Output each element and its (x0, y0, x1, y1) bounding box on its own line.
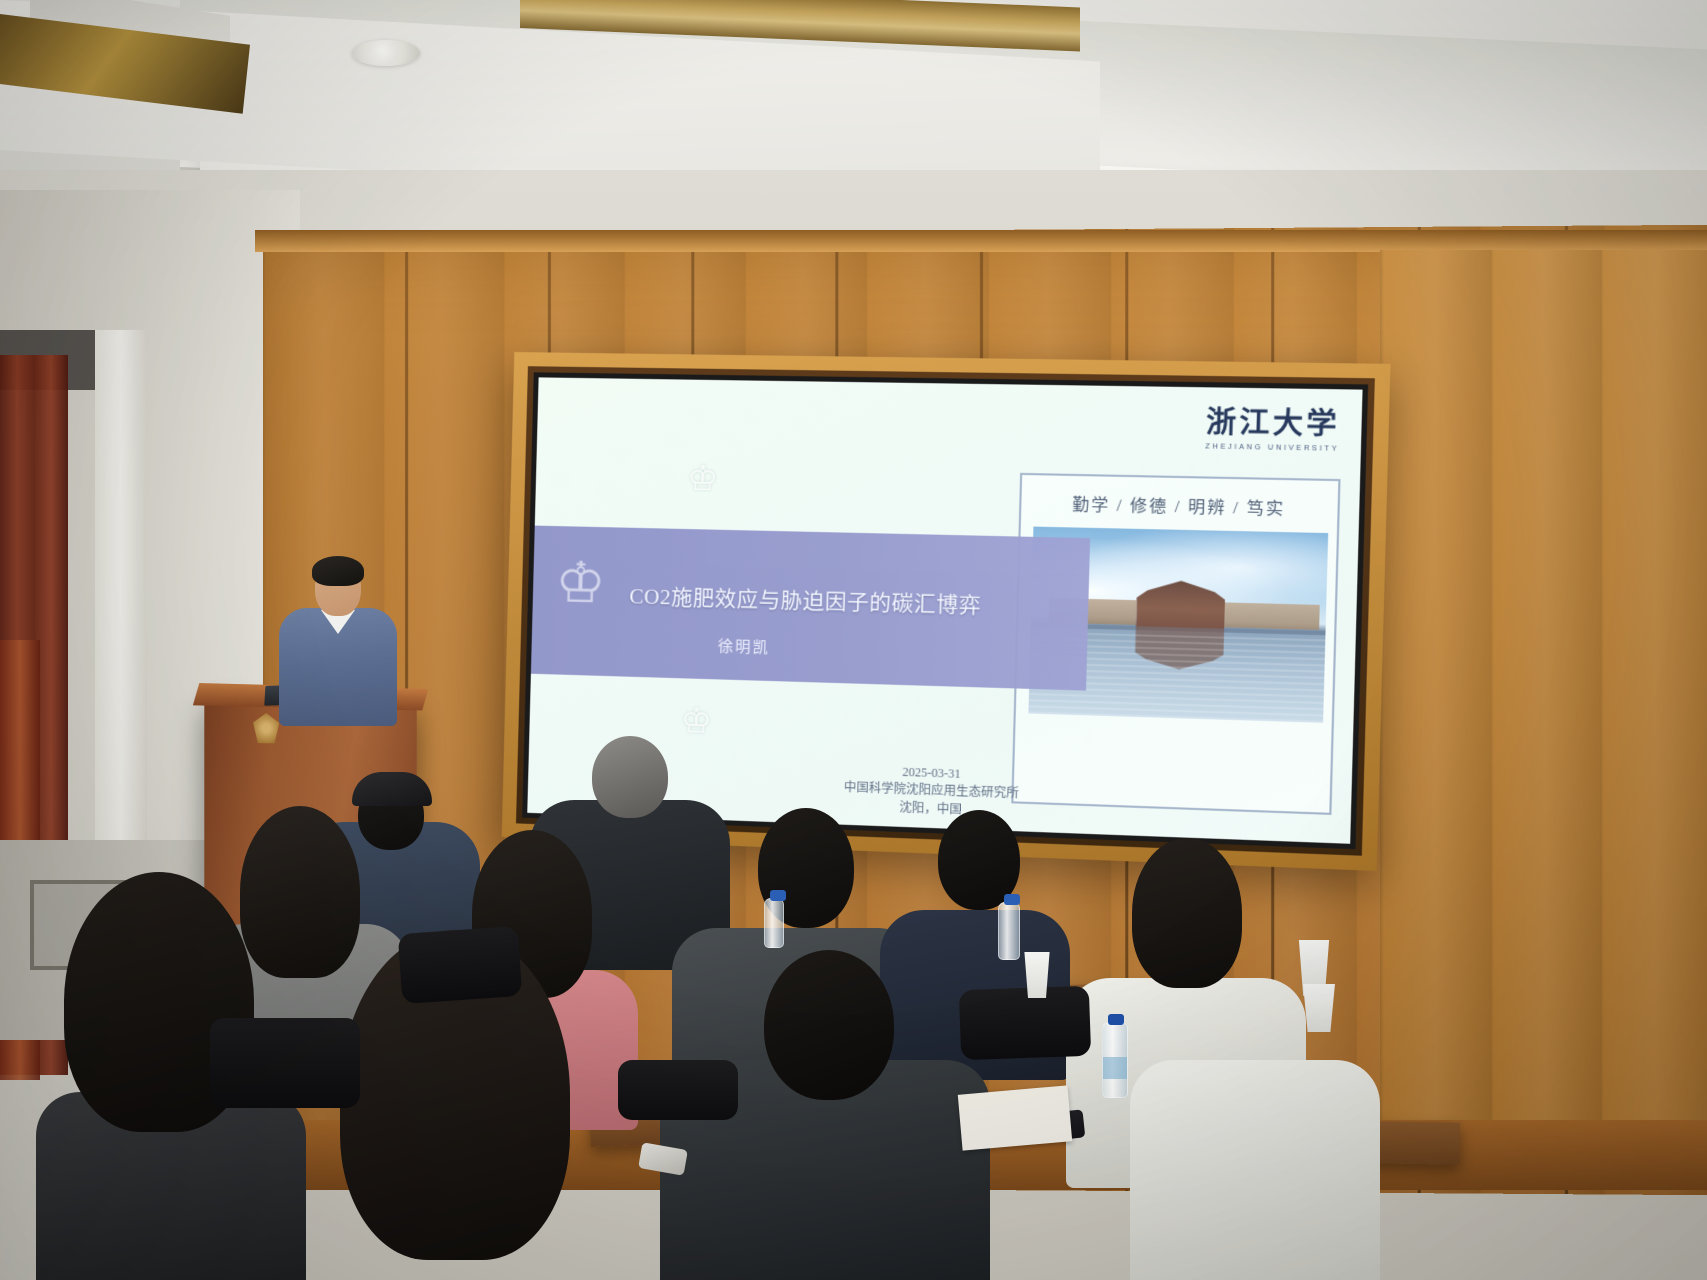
logo-chinese-text: 浙江大学 (1205, 400, 1340, 444)
presenter-hair (312, 556, 364, 586)
wood-right-panel (1380, 250, 1707, 1130)
water-bottle[interactable] (1102, 1022, 1128, 1098)
downlight (352, 40, 420, 66)
band-crest-icon: ♔ (555, 554, 607, 611)
slide-title-band: ♔ CO2施肥效应与胁迫因子的碳汇博弈 徐明凯 (531, 526, 1090, 691)
wood-wall-top-trim (255, 230, 1707, 252)
zhejiang-university-logo: 浙江大学 ZHEJIANG UNIVERSITY (1205, 400, 1340, 453)
audience-head (592, 736, 668, 818)
notebook[interactable] (958, 1085, 1072, 1150)
chair (959, 986, 1091, 1060)
audience-torso (1130, 1060, 1380, 1280)
audience-member (1130, 1000, 1380, 1280)
audience-head (764, 950, 894, 1100)
audience-cap-icon (352, 772, 432, 806)
slide-title: CO2施肥效应与胁迫因子的碳汇博弈 (629, 580, 1068, 622)
logo-english-text: ZHEJIANG UNIVERSITY (1205, 443, 1339, 453)
chair (398, 926, 523, 1004)
slide-author: 徐明凯 (531, 630, 961, 664)
bottle-label (1103, 1057, 1127, 1079)
photo-building-wing-right (1224, 603, 1320, 630)
water-bottle[interactable] (764, 898, 784, 948)
presenter (273, 560, 403, 720)
bottle-cap (1004, 894, 1020, 905)
audience-head (1132, 838, 1242, 988)
water-bottle[interactable] (998, 902, 1020, 960)
photo-scene: 浙江大学 ZHEJIANG UNIVERSITY ♔ ♔ 勤学 / 修德 / 明… (0, 0, 1707, 1280)
bottle-cap (1108, 1014, 1124, 1025)
university-motto: 勤学 / 修德 / 明辨 / 笃实 (1021, 489, 1338, 520)
chair (618, 1060, 738, 1120)
chair (210, 1018, 360, 1108)
watermark-crest-icon: ♔ (687, 458, 719, 499)
bottle-cap (770, 890, 786, 901)
